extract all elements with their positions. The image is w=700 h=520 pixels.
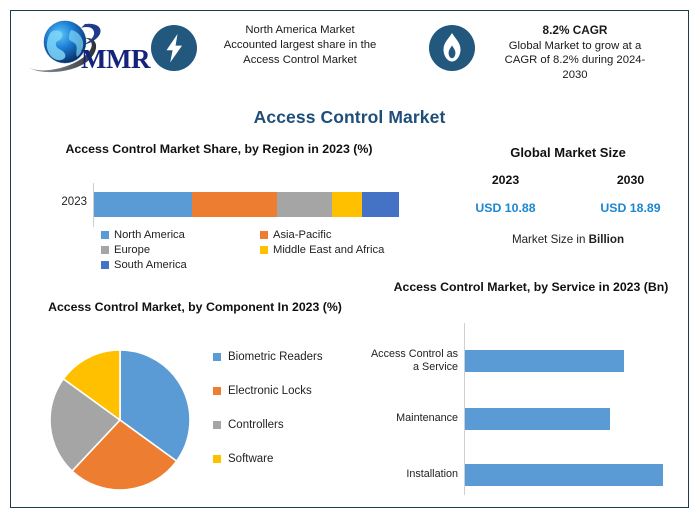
chart-service-split-plot: Access Control as a ServiceMaintenanceIn… (363, 323, 699, 501)
component-legend-item: Software (213, 453, 363, 465)
chart-service-split-title: Access Control Market, by Service in 202… (363, 279, 699, 295)
logo-text: MMR (81, 44, 151, 74)
flame-icon (429, 25, 475, 71)
chart-region-share-plot: 2023 (19, 189, 419, 221)
service-category-label: Access Control as a Service (363, 341, 458, 381)
component-legend-label: Controllers (228, 419, 284, 431)
region-segment (94, 192, 192, 217)
chart-region-share: Access Control Market Share, by Region i… (19, 141, 419, 286)
region-segment (362, 192, 399, 217)
global-market-size-years: 2023 2030 (443, 173, 693, 187)
component-legend-item: Electronic Locks (213, 385, 363, 397)
service-row: Installation (363, 455, 699, 495)
service-bar (465, 350, 624, 372)
legend-swatch-icon (260, 231, 268, 239)
component-legend: Biometric ReadersElectronic LocksControl… (213, 351, 363, 487)
region-legend-item: Europe (101, 244, 260, 256)
badge-line: Access Control Market (209, 53, 391, 68)
page-title: Access Control Market (11, 107, 688, 128)
global-market-size-heading: Global Market Size (443, 145, 693, 160)
region-stacked-bar (94, 192, 399, 217)
header: MMR North America Market Accounted large… (11, 11, 688, 95)
component-legend-item: Biometric Readers (213, 351, 363, 363)
region-legend-label: North America (114, 229, 185, 241)
badge-line: Global Market to grow at a (485, 39, 665, 54)
region-legend-item: North America (101, 229, 260, 241)
badge-cagr-headline: 8.2% CAGR (485, 23, 665, 39)
legend-swatch-icon (260, 246, 268, 254)
region-segment (192, 192, 277, 217)
region-legend: North AmericaAsia-PacificEuropeMiddle Ea… (101, 229, 419, 274)
global-market-size: Global Market Size 2023 2030 USD 10.88 U… (443, 145, 693, 246)
badge-line: 2030 (485, 68, 665, 83)
legend-swatch-icon (101, 246, 109, 254)
region-legend-item: Middle East and Africa (260, 244, 419, 256)
chart-region-share-title: Access Control Market Share, by Region i… (19, 141, 419, 158)
service-bar (465, 464, 663, 486)
badge-north-america-text: North America Market Accounted largest s… (209, 23, 391, 68)
region-legend-item: South America (101, 259, 260, 271)
infographic-frame: MMR North America Market Accounted large… (10, 10, 689, 508)
region-legend-label: Europe (114, 244, 150, 256)
region-legend-label: Asia-Pacific (273, 229, 331, 241)
region-legend-label: Middle East and Africa (273, 244, 384, 256)
legend-swatch-icon (213, 421, 221, 429)
year-2030-label: 2030 (568, 173, 693, 187)
region-legend-label: South America (114, 259, 187, 271)
region-category-label: 2023 (31, 196, 87, 208)
value-2023: USD 10.88 (443, 201, 568, 215)
legend-swatch-icon (101, 261, 109, 269)
legend-swatch-icon (213, 387, 221, 395)
service-row: Maintenance (363, 399, 699, 439)
badge-line: CAGR of 8.2% during 2024- (485, 53, 665, 68)
service-row: Access Control as a Service (363, 341, 699, 381)
service-category-label: Maintenance (363, 399, 458, 439)
region-segment (332, 192, 363, 217)
footnote-unit: Billion (589, 233, 624, 246)
region-legend-item: Asia-Pacific (260, 229, 419, 241)
chart-component-share: Access Control Market, by Component In 2… (25, 299, 365, 509)
legend-swatch-icon (213, 455, 221, 463)
component-legend-item: Controllers (213, 419, 363, 431)
region-segment (277, 192, 332, 217)
global-market-size-footnote: Market Size in Billion (443, 233, 693, 246)
badge-line: Accounted largest share in the (209, 38, 391, 53)
legend-swatch-icon (213, 353, 221, 361)
mmr-globe-logo: MMR (23, 16, 151, 78)
value-2030: USD 18.89 (568, 201, 693, 215)
legend-swatch-icon (101, 231, 109, 239)
component-legend-label: Software (228, 453, 273, 465)
global-market-size-values: USD 10.88 USD 18.89 (443, 201, 693, 215)
component-legend-label: Electronic Locks (228, 385, 312, 397)
year-2023-label: 2023 (443, 173, 568, 187)
badge-cagr-text: 8.2% CAGR Global Market to grow at a CAG… (485, 23, 665, 83)
chart-component-share-title: Access Control Market, by Component In 2… (25, 299, 365, 315)
component-pie (47, 347, 193, 493)
badge-line: North America Market (209, 23, 391, 38)
footnote-prefix: Market Size in (512, 233, 589, 246)
component-legend-label: Biometric Readers (228, 351, 323, 363)
service-bar (465, 408, 610, 430)
service-category-label: Installation (363, 455, 458, 495)
lightning-bolt-icon (151, 25, 197, 71)
chart-service-split: Access Control Market, by Service in 202… (363, 279, 699, 511)
